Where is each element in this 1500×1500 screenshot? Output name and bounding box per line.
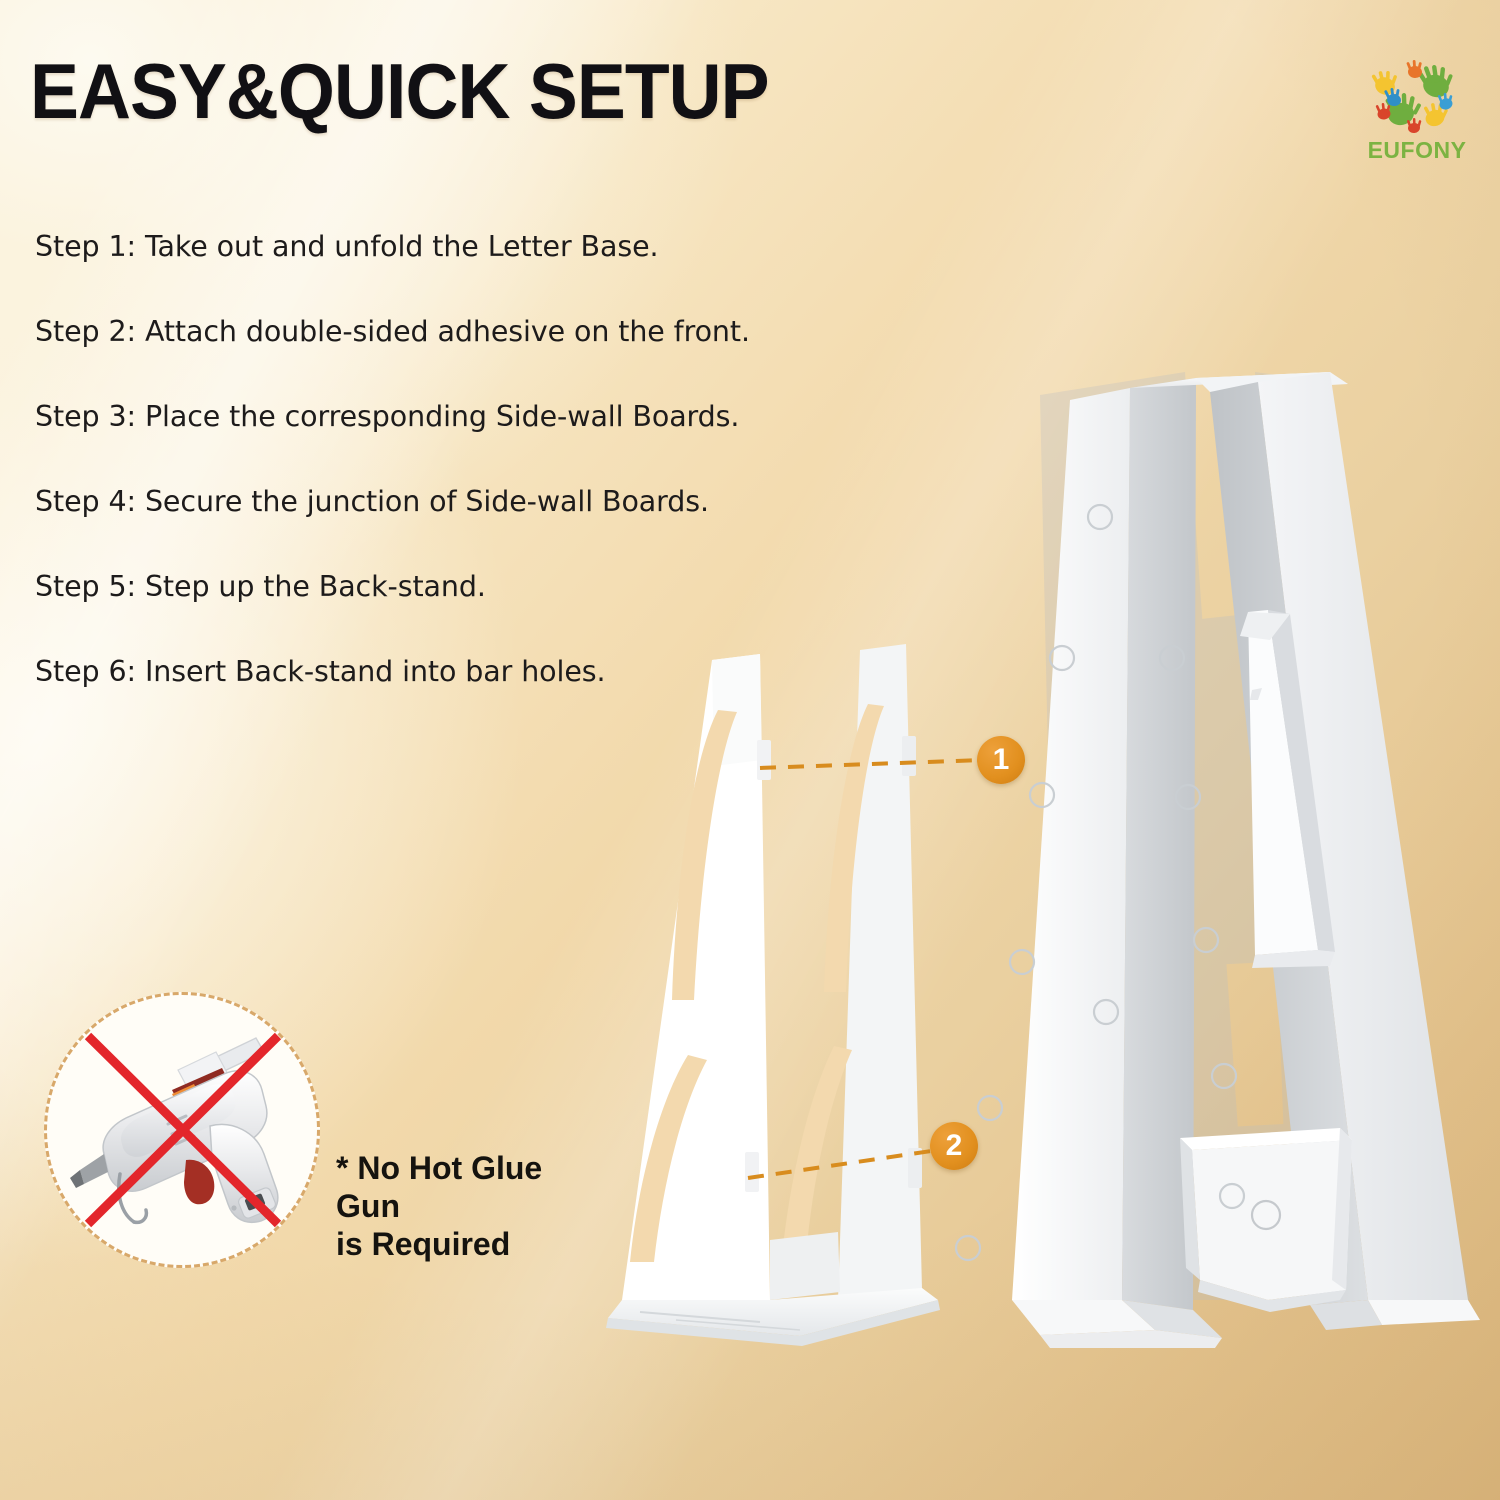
step-item-4: Step 4: Secure the junction of Side-wall…	[35, 483, 775, 520]
setup-steps-list: Step 1: Take out and unfold the Letter B…	[35, 228, 775, 690]
step-item-5: Step 5: Step up the Back-stand.	[35, 568, 775, 605]
letter-a-right-foot	[1310, 1300, 1480, 1330]
hot-glue-gun-prohibited-icon	[60, 1008, 304, 1252]
handprints-circle-logo-icon	[1352, 52, 1482, 142]
no-glue-gun-label: * No Hot Glue Gun is Required	[336, 1150, 606, 1263]
side-wall-board-left	[618, 654, 771, 1312]
step-item-3: Step 3: Place the corresponding Side-wal…	[35, 398, 775, 435]
step-item-1: Step 1: Take out and unfold the Letter B…	[35, 228, 775, 265]
callout-badge-2: 2	[930, 1122, 978, 1170]
brand-logo: EUFONY	[1352, 52, 1482, 164]
no-glue-gun-label-line1: * No Hot Glue Gun	[336, 1150, 606, 1226]
callout-badge-1: 1	[977, 736, 1025, 784]
no-glue-gun-label-line2: is Required	[336, 1226, 606, 1264]
page-title: EASY&QUICK SETUP	[30, 46, 769, 137]
brand-name: EUFONY	[1352, 137, 1482, 164]
step-item-2: Step 2: Attach double-sided adhesive on …	[35, 313, 775, 350]
step-item-6: Step 6: Insert Back-stand into bar holes…	[35, 653, 775, 690]
letter-a-crossbar-piece	[1180, 1128, 1352, 1312]
no-glue-gun-notice: * No Hot Glue Gun is Required	[44, 992, 604, 1282]
